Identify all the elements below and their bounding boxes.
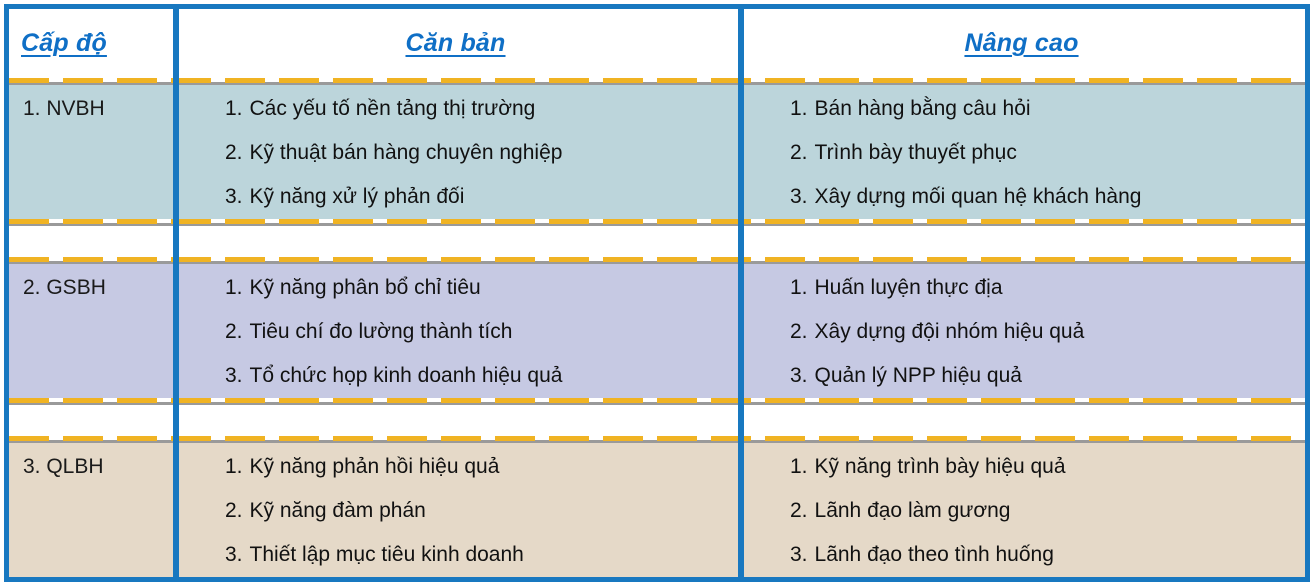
row-level-cell: 3. QLBH [9,443,173,577]
row-advanced-cell: 1.Bán hàng bằng câu hỏi 2.Trình bày thuy… [738,85,1305,219]
item-number: 2. [790,499,808,522]
training-matrix-table: Cấp độ Căn bản Nâng cao 1. NVBH 1.Các yế… [4,4,1310,582]
row-level-label: 1. NVBH [9,97,105,121]
item-number: 1. [790,455,808,478]
item-text: Kỹ thuật bán hàng chuyên nghiệp [250,141,563,164]
row-basic-cell: 1.Kỹ năng phản hồi hiệu quả 2.Kỹ năng đà… [173,443,738,577]
spacer-cell [173,405,738,436]
spacer-row [9,226,1305,257]
item-text: Kỹ năng trình bày hiệu quả [815,455,1066,478]
row-basic-cell: 1.Các yếu tố nền tảng thị trường 2.Kỹ th… [173,85,738,219]
item-text: Quản lý NPP hiệu quả [815,364,1022,387]
table-row: 3. QLBH 1.Kỹ năng phản hồi hiệu quả 2.Kỹ… [9,443,1305,577]
item-number: 1. [790,276,808,299]
item-number: 3. [225,185,243,208]
item-text: Trình bày thuyết phục [815,141,1017,164]
basic-skill-list: 1.Kỹ năng phản hồi hiệu quả 2.Kỹ năng đà… [173,445,738,577]
list-item: 2.Xây dựng đội nhóm hiệu quả [790,310,1305,354]
dashed-separator [9,257,1305,264]
basic-skill-list: 1.Các yếu tố nền tảng thị trường 2.Kỹ th… [173,87,738,219]
list-item: 1.Kỹ năng phản hồi hiệu quả [225,445,738,489]
spacer-cell [738,226,1305,257]
row-advanced-cell: 1.Huấn luyện thực địa 2.Xây dựng đội nhó… [738,264,1305,398]
item-number: 2. [225,141,243,164]
header-cell-advanced: Nâng cao [738,9,1305,78]
column-header-advanced: Nâng cao [738,29,1305,58]
header-cell-level: Cấp độ [9,9,173,78]
item-text: Bán hàng bằng câu hỏi [815,97,1031,120]
item-text: Huấn luyện thực địa [815,276,1003,299]
list-item: 1.Bán hàng bằng câu hỏi [790,87,1305,131]
slide-canvas: Cấp độ Căn bản Nâng cao 1. NVBH 1.Các yế… [0,0,1314,586]
table-row: 2. GSBH 1.Kỹ năng phân bổ chỉ tiêu 2.Tiê… [9,264,1305,398]
item-text: Kỹ năng xử lý phản đối [250,185,465,208]
spacer-cell [9,226,173,257]
item-text: Kỹ năng đàm phán [250,499,426,522]
item-text: Các yếu tố nền tảng thị trường [250,97,536,120]
item-number: 3. [225,543,243,566]
list-item: 1.Kỹ năng phân bổ chỉ tiêu [225,266,738,310]
list-item: 2.Tiêu chí đo lường thành tích [225,310,738,354]
item-text: Lãnh đạo theo tình huống [815,543,1054,566]
column-header-level: Cấp độ [9,29,173,58]
item-number: 1. [225,276,243,299]
item-number: 1. [225,455,243,478]
item-number: 1. [225,97,243,120]
spacer-cell [9,405,173,436]
item-text: Kỹ năng phản hồi hiệu quả [250,455,500,478]
row-advanced-cell: 1.Kỹ năng trình bày hiệu quả 2.Lãnh đạo … [738,443,1305,577]
list-item: 3.Kỹ năng xử lý phản đối [225,175,738,219]
dashed-separator [9,78,1305,85]
row-level-cell: 1. NVBH [9,85,173,219]
list-item: 2.Lãnh đạo làm gương [790,489,1305,533]
list-item: 1.Kỹ năng trình bày hiệu quả [790,445,1305,489]
spacer-row [9,405,1305,436]
item-number: 2. [790,141,808,164]
list-item: 1.Huấn luyện thực địa [790,266,1305,310]
dashed-separator [9,219,1305,226]
list-item: 2.Trình bày thuyết phục [790,131,1305,175]
item-text: Thiết lập mục tiêu kinh doanh [250,543,524,566]
item-text: Tiêu chí đo lường thành tích [250,320,513,343]
item-number: 2. [790,320,808,343]
item-number: 3. [790,185,808,208]
row-level-cell: 2. GSBH [9,264,173,398]
item-number: 3. [225,364,243,387]
item-text: Xây dựng đội nhóm hiệu quả [815,320,1085,343]
advanced-skill-list: 1.Kỹ năng trình bày hiệu quả 2.Lãnh đạo … [738,445,1305,577]
item-number: 2. [225,499,243,522]
table-grid: Cấp độ Căn bản Nâng cao 1. NVBH 1.Các yế… [9,9,1305,577]
list-item: 3.Quản lý NPP hiệu quả [790,354,1305,398]
item-number: 3. [790,364,808,387]
item-text: Xây dựng mối quan hệ khách hàng [815,185,1142,208]
spacer-cell [738,405,1305,436]
row-level-label: 3. QLBH [9,455,104,479]
advanced-skill-list: 1.Bán hàng bằng câu hỏi 2.Trình bày thuy… [738,87,1305,219]
header-cell-basic: Căn bản [173,9,738,78]
list-item: 3.Lãnh đạo theo tình huống [790,533,1305,577]
item-text: Lãnh đạo làm gương [815,499,1011,522]
list-item: 2.Kỹ năng đàm phán [225,489,738,533]
item-number: 3. [790,543,808,566]
list-item: 3.Tổ chức họp kinh doanh hiệu quả [225,354,738,398]
basic-skill-list: 1.Kỹ năng phân bổ chỉ tiêu 2.Tiêu chí đo… [173,266,738,398]
spacer-cell [173,226,738,257]
row-level-label: 2. GSBH [9,276,106,300]
list-item: 3.Thiết lập mục tiêu kinh doanh [225,533,738,577]
list-item: 2.Kỹ thuật bán hàng chuyên nghiệp [225,131,738,175]
table-header-row: Cấp độ Căn bản Nâng cao [9,9,1305,78]
item-number: 2. [225,320,243,343]
list-item: 3.Xây dựng mối quan hệ khách hàng [790,175,1305,219]
dashed-separator [9,398,1305,405]
column-header-basic: Căn bản [173,29,738,58]
item-number: 1. [790,97,808,120]
item-text: Tổ chức họp kinh doanh hiệu quả [250,364,563,387]
dashed-separator [9,436,1305,443]
table-row: 1. NVBH 1.Các yếu tố nền tảng thị trường… [9,85,1305,219]
list-item: 1.Các yếu tố nền tảng thị trường [225,87,738,131]
advanced-skill-list: 1.Huấn luyện thực địa 2.Xây dựng đội nhó… [738,266,1305,398]
item-text: Kỹ năng phân bổ chỉ tiêu [250,276,481,299]
row-basic-cell: 1.Kỹ năng phân bổ chỉ tiêu 2.Tiêu chí đo… [173,264,738,398]
